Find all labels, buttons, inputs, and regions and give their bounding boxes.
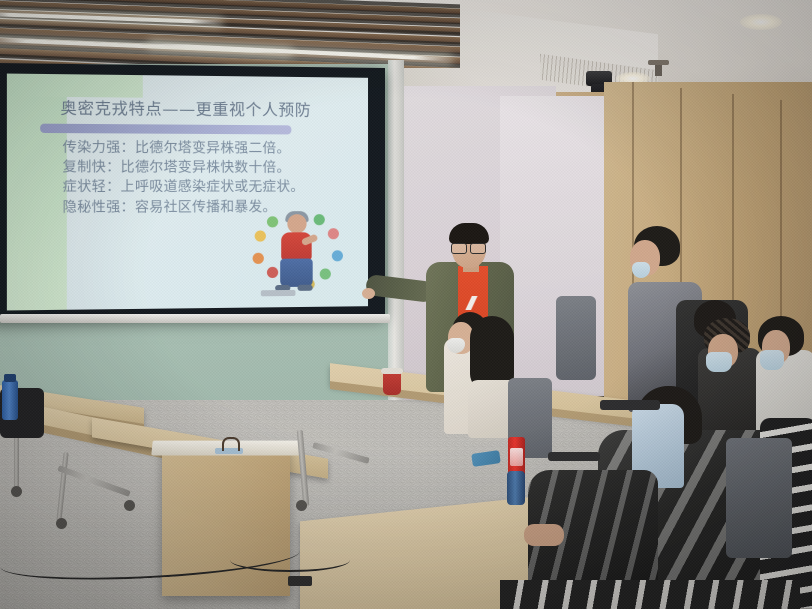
slide-bullet-2: 复制快：比德尔塔变异株快数十倍。 [63,158,362,178]
sneezing-person-illustration [246,206,356,299]
screen-roller-bar [0,314,390,323]
illustration-legs [280,258,312,287]
virus-particle [255,230,266,241]
floor-cable-2 [230,548,350,572]
surgical-mask [706,352,732,372]
slide-mint-band [7,74,67,311]
table-caster [56,518,67,529]
slide-bullet-3: 症状轻：上呼吸道感染症状或无症状。 [63,178,362,198]
glasses-right-lens [470,243,486,254]
virus-particle [320,268,331,279]
table-caster [11,486,22,497]
illustration-foot-right [297,285,312,291]
slide-mint-top-band [7,74,143,98]
illustration-caption-bar [261,290,296,296]
table-caster [124,500,135,511]
presentation-slide: 奥密克戎特点——更重视个人预防 传染力强：比德尔塔变异株强二倍。 复制快：比德尔… [7,74,368,311]
virus-particle [253,253,264,264]
student-long-hair-hair [470,316,514,390]
slide-title: 奥密克戎特点——更重视个人预防 [60,96,360,121]
ceiling-mount-stub [655,64,662,76]
glasses-left-lens [451,243,467,254]
presenter-hand [362,288,375,299]
office-chair-3 [726,438,792,558]
wall-pillar [388,60,404,420]
chair-armrest-2 [600,400,660,410]
chair-armrest-1 [548,452,600,461]
floor-power-box [288,576,312,586]
water-bottle-cap [4,374,16,382]
virus-particle [314,214,325,225]
illustration-head [287,214,306,233]
virus-particle [267,216,278,227]
projection-screen: 奥密克戎特点——更重视个人预防 传染力强：比德尔塔变异株强二倍。 复制快：比德尔… [0,63,385,321]
student-foreground-left-hand [524,524,564,546]
slide-divider-bar [40,124,291,135]
soda-can-label [510,448,523,466]
office-chair-2 [556,296,596,380]
presenter-tshirt-graphic [460,296,486,310]
table-caster [296,500,307,511]
slide-bullet-1: 传染力强：比德尔塔变异株强二倍。 [63,138,362,159]
coffee-cup-lid [381,368,403,374]
gooseneck-microphone [222,437,240,451]
water-bottle-blue [507,471,525,505]
jacket-bottom-strip [500,580,800,609]
virus-particle [328,228,339,239]
glasses-icon [451,243,489,252]
water-bottle-left [2,380,18,420]
presenter-hair [449,223,489,244]
classroom-photo: 奥密克戎特点——更重视个人预防 传染力强：比德尔塔变异株强二倍。 复制快：比德尔… [0,0,812,609]
virus-particle [332,250,343,261]
coffee-cup [383,371,401,395]
downlight-1 [740,14,782,30]
virus-particle [267,267,278,278]
surgical-mask [760,350,784,370]
